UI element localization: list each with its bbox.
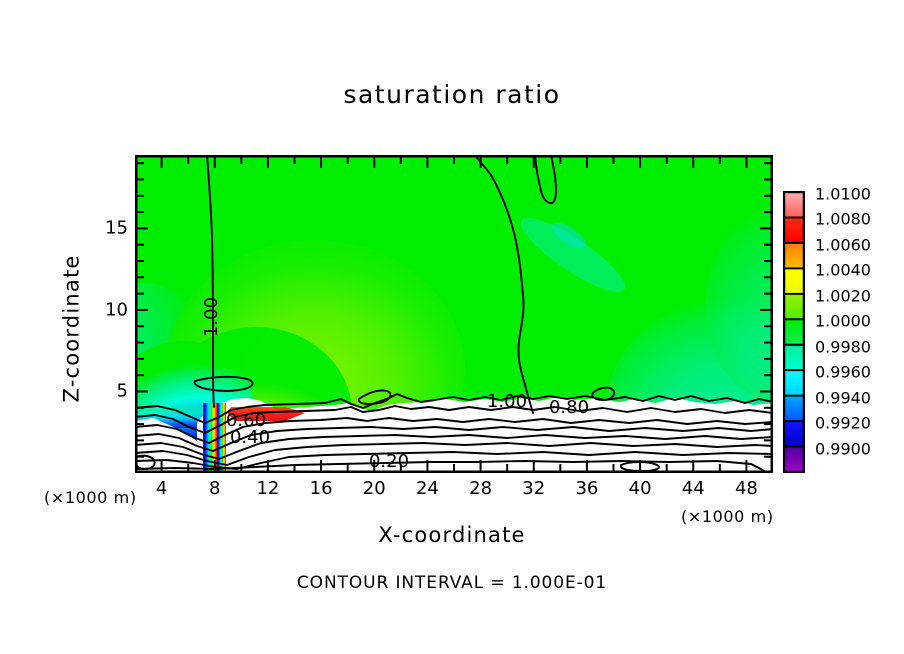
- colorbar: [783, 191, 805, 473]
- colorbar-band: [784, 294, 804, 319]
- colorbar-tick-label: 1.0020: [815, 286, 871, 305]
- y-tick-label: 15: [94, 218, 128, 239]
- colorbar-band: [784, 370, 804, 395]
- x-tick-label: 4: [156, 478, 167, 499]
- colorbar-band: [784, 268, 804, 293]
- colorbar-band: [784, 345, 804, 370]
- contour-label-1.00: 1.00: [487, 391, 527, 412]
- x-axis-title: X-coordinate: [0, 525, 904, 546]
- colorbar-tick-label: 1.0040: [815, 261, 871, 280]
- x-tick-label: 44: [682, 478, 705, 499]
- page-title: saturation ratio: [0, 82, 904, 107]
- x-tick-label: 28: [469, 478, 492, 499]
- x-tick-label: 40: [629, 478, 652, 499]
- x-tick-label: 16: [310, 478, 333, 499]
- x-tick-label: 8: [209, 478, 220, 499]
- x-tick-label: 20: [363, 478, 386, 499]
- figure-canvas: saturation ratio: [0, 0, 904, 654]
- x-tick-label: 24: [416, 478, 439, 499]
- colorbar-tick-label: 1.0000: [815, 312, 871, 331]
- y-tick-label: 5: [94, 381, 128, 402]
- colorbar-tick-label: 0.9940: [815, 388, 871, 407]
- z-axis-units: (×1000 m): [44, 490, 137, 506]
- colorbar-tick-label: 0.9900: [815, 439, 871, 458]
- colorbar-tick-label: 1.0080: [815, 210, 871, 229]
- contour-label-0.80: 0.80: [549, 397, 589, 418]
- contour-label-0.40: 0.40: [230, 427, 270, 448]
- contour-interval-note: CONTOUR INTERVAL = 1.000E-01: [0, 575, 904, 592]
- x-tick-label: 36: [575, 478, 598, 499]
- colorbar-tick-label: 1.0100: [815, 185, 871, 204]
- colorbar-band: [784, 447, 804, 472]
- colorbar-tick-label: 1.0060: [815, 235, 871, 254]
- contour-plot: 1.00 1.00 0.80 0.60 0.40 0.20: [135, 155, 773, 473]
- y-axis-title: Z-coordinate: [62, 219, 83, 439]
- x-tick-label: 48: [735, 478, 758, 499]
- colorbar-band: [784, 396, 804, 421]
- colorbar-band: [784, 319, 804, 344]
- colorbar-bands: [784, 192, 804, 472]
- colorbar-tick-label: 0.9960: [815, 363, 871, 382]
- colorbar-band: [784, 192, 804, 217]
- contour-label-1.00-vertical: 1.00: [201, 297, 222, 337]
- y-tick-label: 10: [94, 299, 128, 320]
- colorbar-band: [784, 217, 804, 242]
- colorbar-tick-label: 0.9980: [815, 337, 871, 356]
- x-axis-units: (×1000 m): [681, 509, 774, 525]
- colorbar-tick-label: 0.9920: [815, 414, 871, 433]
- x-tick-label: 32: [522, 478, 545, 499]
- x-tick-label: 12: [256, 478, 279, 499]
- colorbar-band: [784, 243, 804, 268]
- colorbar-band: [784, 421, 804, 446]
